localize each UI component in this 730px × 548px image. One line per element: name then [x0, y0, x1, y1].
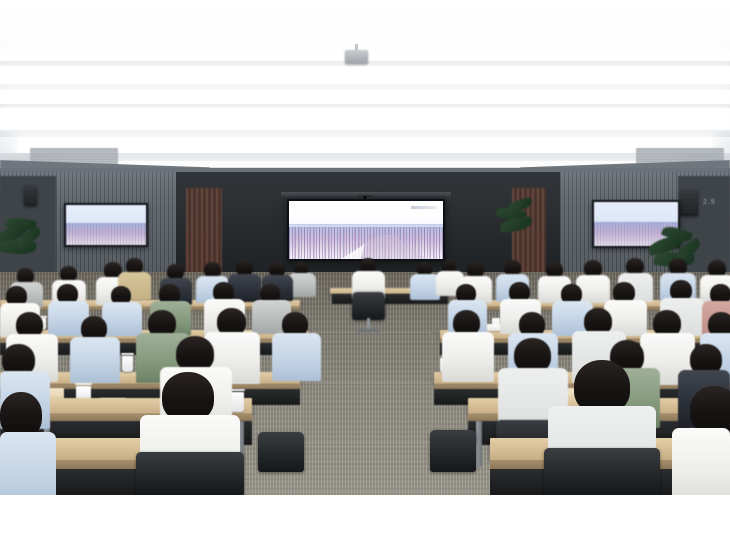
- side-display-left: [64, 203, 148, 247]
- ceiling-light-band-5: [18, 137, 712, 153]
- letterbox-bar: [0, 495, 730, 548]
- projector: [345, 50, 368, 64]
- ceiling-soffit: [0, 0, 730, 52]
- wall-speaker-left: [24, 186, 37, 206]
- chair-r6-2: [544, 448, 660, 495]
- chair-front-1: [352, 292, 385, 320]
- screen-watermark: [411, 206, 437, 209]
- conference-room-photo: 2.5: [0, 0, 730, 495]
- mug-lid: [121, 353, 134, 355]
- chair-aisle-left: [258, 432, 304, 472]
- chair-base: [357, 329, 380, 332]
- ceiling-light-band-3: [0, 90, 730, 104]
- main-led-wall: [287, 199, 445, 261]
- ceiling-trough-2: [0, 130, 730, 137]
- carpet-tile: [290, 442, 442, 495]
- wall-speaker-right: [680, 190, 698, 216]
- chair-r6-1: [136, 452, 244, 495]
- carpet-tile: [300, 382, 432, 444]
- desk-leg: [476, 421, 482, 467]
- wall-sign-right: 2.5: [703, 199, 716, 206]
- stage-curtain-left: [186, 188, 222, 274]
- chair-aisle-right: [430, 430, 476, 472]
- mug-lid: [75, 383, 92, 385]
- ceiling-light-band-2: [0, 66, 730, 84]
- mug: [230, 392, 244, 412]
- mug: [122, 356, 133, 372]
- ceiling-light-band-4: [0, 108, 730, 130]
